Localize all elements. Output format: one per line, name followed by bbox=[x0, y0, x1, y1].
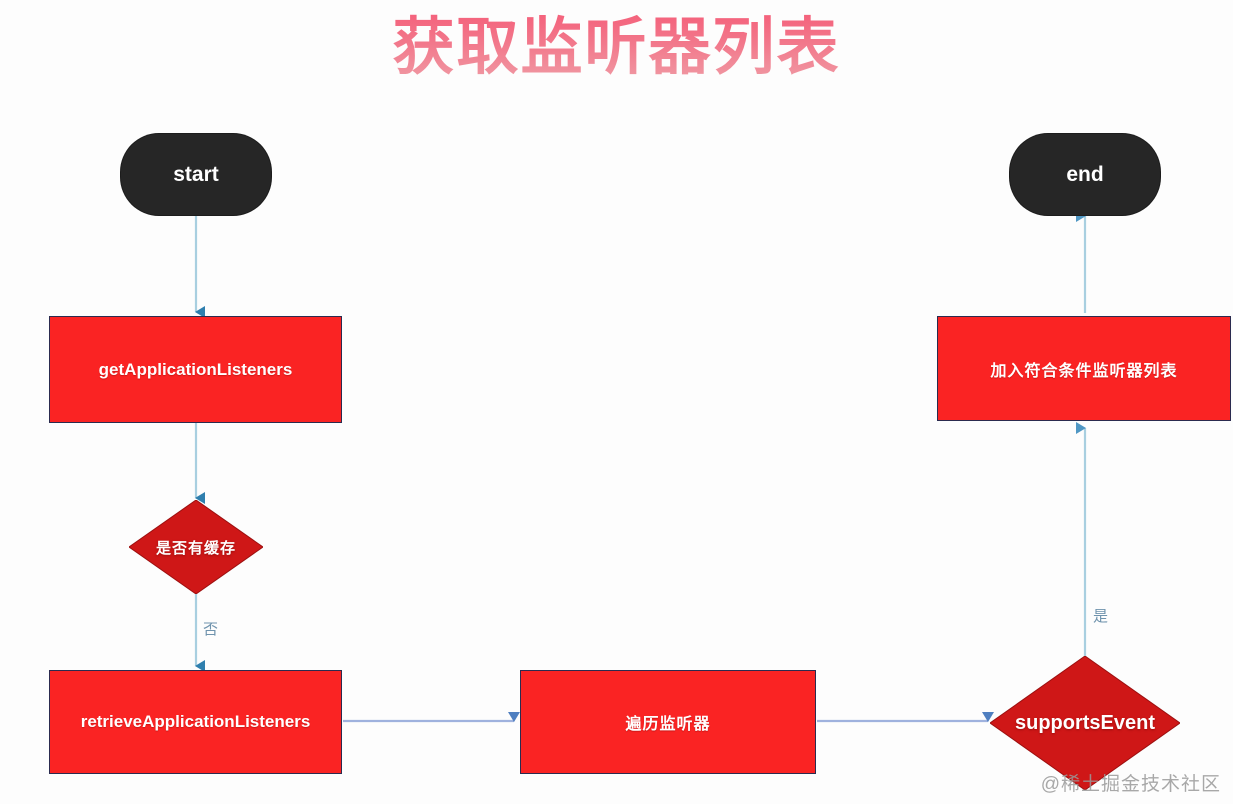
node-has-cache[interactable]: 是否有缓存 bbox=[129, 500, 263, 594]
node-add-to-matched-list[interactable]: 加入符合条件监听器列表 bbox=[937, 316, 1231, 421]
node-get-application-listeners[interactable]: getApplicationListeners bbox=[49, 316, 342, 423]
node-iterate-listeners[interactable]: 遍历监听器 bbox=[520, 670, 816, 774]
node-start[interactable]: start bbox=[121, 134, 271, 215]
node-iterate-listeners-label: 遍历监听器 bbox=[625, 710, 710, 734]
node-supports-event-label: supportsEvent bbox=[1015, 712, 1155, 735]
node-start-label: start bbox=[173, 163, 219, 187]
node-add-to-matched-list-label: 加入符合条件监听器列表 bbox=[990, 357, 1177, 381]
edge-label-supports-yes: 是 bbox=[1093, 605, 1108, 626]
node-retrieve-application-listeners[interactable]: retrieveApplicationListeners bbox=[49, 670, 342, 774]
node-end-label: end bbox=[1066, 163, 1103, 187]
edge-label-cache-no: 否 bbox=[203, 618, 218, 639]
node-retrieve-application-listeners-label: retrieveApplicationListeners bbox=[81, 712, 311, 732]
flowchart-canvas: 获取监听器列表 start bbox=[0, 0, 1233, 804]
node-get-application-listeners-label: getApplicationListeners bbox=[99, 360, 293, 380]
watermark: @稀土掘金技术社区 bbox=[1041, 769, 1221, 796]
node-has-cache-label: 是否有缓存 bbox=[156, 537, 236, 558]
node-end[interactable]: end bbox=[1010, 134, 1160, 215]
